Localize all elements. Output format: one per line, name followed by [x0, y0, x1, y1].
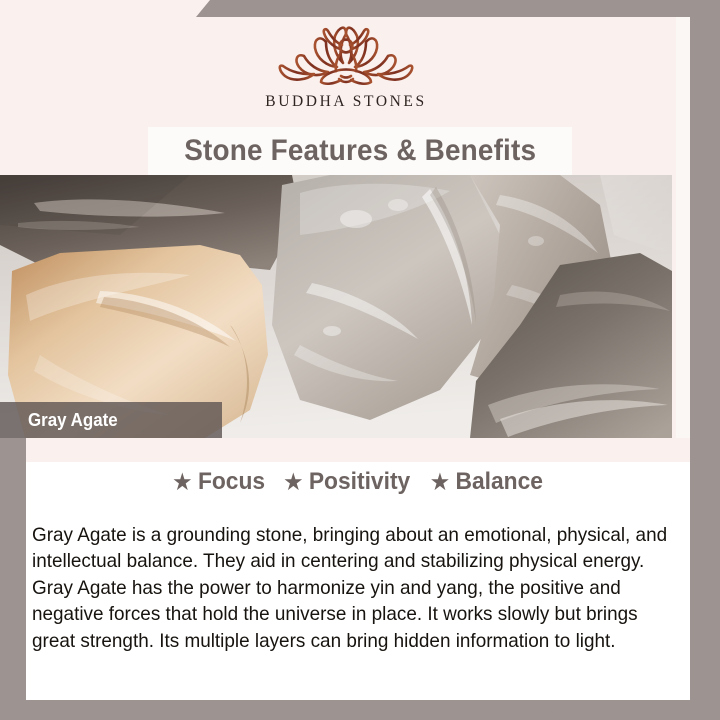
section-title-plate: Stone Features & Benefits — [148, 127, 572, 175]
left-frame-bar — [0, 437, 26, 720]
stone-photo — [0, 175, 672, 438]
panel-top-strip — [26, 438, 690, 462]
star-icon: ★ — [284, 472, 302, 493]
photo-caption: Gray Agate — [28, 410, 118, 431]
keyword-item: ★ Focus — [173, 468, 265, 496]
keyword-label: Balance — [455, 468, 542, 496]
page-title: Stone Features & Benefits — [184, 134, 536, 168]
stone-description: Gray Agate is a grounding stone, bringin… — [32, 522, 668, 655]
top-frame-wedge — [196, 0, 720, 17]
star-icon: ★ — [173, 472, 191, 493]
bottom-frame-bar — [0, 703, 560, 720]
lotus-meditation-icon — [271, 22, 421, 88]
keyword-item: ★ Positivity — [284, 468, 410, 496]
right-frame-bar — [690, 0, 720, 720]
brand-name: BUDDHA STONES — [265, 93, 426, 111]
keyword-list: ★ Focus ★ Positivity ★ Balance — [26, 468, 690, 496]
content-panel: ★ Focus ★ Positivity ★ Balance Gray Agat… — [26, 462, 690, 700]
keyword-item: ★ Balance — [431, 468, 543, 496]
photo-caption-bar: Gray Agate — [0, 402, 222, 438]
keyword-label: Positivity — [309, 468, 410, 496]
stone-info-card: BUDDHA STONES Stone Features & Benefits — [0, 0, 720, 720]
star-icon: ★ — [431, 472, 449, 493]
brand-block: BUDDHA STONES — [0, 22, 692, 111]
keyword-label: Focus — [197, 468, 264, 496]
